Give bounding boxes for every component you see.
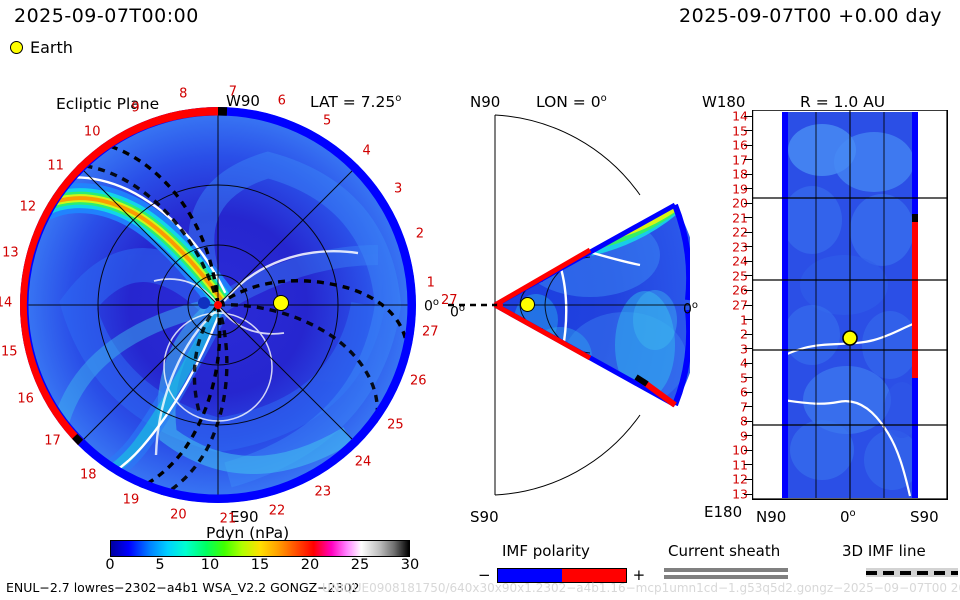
radial-y-tick-mark — [744, 203, 752, 204]
sun-marker-icon — [214, 301, 222, 309]
radial-y-tick-mark — [744, 188, 752, 189]
colorbar-tick-labels: 051015202530 — [110, 557, 410, 575]
radial-y-tick-mark — [744, 348, 752, 349]
radial-y-tick-mark — [744, 130, 752, 131]
ecliptic-hour-label: 10 — [84, 124, 101, 139]
ecliptic-hour-label: 13 — [2, 246, 19, 261]
run-id-footer: UNIQUE0908181750/640x30x90x1.2302−a4b1.1… — [322, 581, 960, 595]
ecliptic-hour-label: 15 — [1, 344, 18, 359]
degree-icon: o — [459, 303, 465, 314]
earth-marker-radial — [843, 331, 857, 345]
polarity-positive-swatch — [562, 569, 626, 582]
degree-icon: o — [601, 93, 607, 104]
colorbar-tick-label: 0 — [105, 557, 114, 573]
ecliptic-hour-label: 16 — [17, 391, 34, 406]
meridional-sun-marker-icon — [497, 302, 503, 308]
radial-y-tick-mark — [744, 363, 752, 364]
radial-y-tick-mark — [744, 159, 752, 160]
colorbar-tick-label: 5 — [155, 557, 164, 573]
radial-y-tick-mark — [744, 450, 752, 451]
imf-line-dashes — [866, 571, 958, 575]
ecliptic-hour-label: 3 — [394, 182, 402, 197]
radial-y-tick-mark — [744, 377, 752, 378]
ecliptic-hour-label: 8 — [179, 86, 187, 101]
degree-icon: o — [850, 508, 856, 519]
meridional-plot-area — [440, 105, 690, 505]
epoch-title: 2025-09-07T00 +0.00 day — [679, 5, 942, 27]
meridional-right-degree-label: 0o — [683, 300, 698, 318]
radial-y-tick-mark — [744, 290, 752, 291]
radial-y-tick-mark — [744, 246, 752, 247]
pdyn-colorbar: 051015202530 — [110, 540, 410, 575]
radial-field — [782, 112, 920, 498]
timestamp-title: 2025-09-07T00:00 — [14, 5, 199, 27]
colorbar-tick-label: 30 — [401, 557, 419, 573]
radial-y-tick-mark — [744, 116, 752, 117]
ecliptic-right-degree-label: 0o — [424, 297, 439, 315]
radial-y-tick-mark — [744, 174, 752, 175]
ecliptic-hour-label: 27 — [422, 325, 439, 340]
meridional-bottom-label: S90 — [470, 508, 499, 526]
radial-y-tick-mark — [744, 494, 752, 495]
radial-y-tick-mark — [744, 319, 752, 320]
ecliptic-hour-label: 17 — [44, 433, 61, 448]
meridional-left-degree-label: 0o — [450, 303, 465, 321]
ecliptic-plot-area — [18, 105, 418, 505]
ecliptic-hour-label: 12 — [20, 199, 37, 214]
model-version-footer: ENUL−2.7 lowres−2302−a4b1 WSA_V2.2 GONGZ… — [6, 580, 359, 595]
radial-y-tick-mark — [744, 334, 752, 335]
radial-y-tick-mark — [744, 217, 752, 218]
radial-x-label-zero: 0o — [840, 508, 856, 526]
earth-marker-icon — [10, 41, 23, 54]
ecliptic-hour-label: 19 — [123, 493, 140, 508]
ecliptic-hour-label: 21 — [220, 511, 237, 526]
radial-y-tick-mark — [744, 305, 752, 306]
ecliptic-hour-label: 18 — [80, 468, 97, 483]
ecliptic-hour-label: 5 — [323, 113, 331, 128]
current-sheath-legend-swatch — [664, 568, 788, 579]
ecliptic-plane-panel: 1011121314151617181920212223242526271234… — [18, 105, 418, 505]
radial-y-tick-mark — [744, 421, 752, 422]
ecliptic-hour-label: 2 — [416, 227, 424, 242]
ecliptic-hour-label: 11 — [47, 158, 64, 173]
degree-icon: o — [433, 297, 439, 308]
radial-x-label-s90: S90 — [910, 508, 939, 526]
radial-bottom-left-label: E180 — [704, 503, 742, 521]
ecliptic-hour-label: 14 — [0, 295, 12, 310]
ecliptic-hour-label: 20 — [170, 508, 187, 523]
radial-y-tick-mark — [744, 145, 752, 146]
ecliptic-hour-label: 7 — [229, 84, 237, 99]
ecliptic-hour-label: 4 — [363, 144, 371, 159]
meridional-panel: 27 0o 0o — [440, 105, 690, 505]
radial-panel-title: R = 1.0 AU — [800, 93, 885, 111]
ecliptic-hour-label: 1 — [427, 275, 435, 290]
current-sheath-line-bottom — [664, 575, 788, 579]
degree-icon: o — [395, 93, 401, 104]
radial-y-tick-mark — [744, 261, 752, 262]
earth-marker-meridional — [520, 297, 535, 312]
radial-y-tick-mark — [744, 392, 752, 393]
polarity-negative-swatch — [498, 569, 562, 582]
colorbar-tick-label: 10 — [201, 557, 219, 573]
radial-x-label-n90: N90 — [756, 508, 786, 526]
earth-legend: Earth — [10, 38, 73, 57]
colorbar-tick-label: 15 — [251, 557, 269, 573]
radial-plot-area — [752, 110, 948, 500]
colorbar-tick-label: 20 — [301, 557, 319, 573]
ecliptic-hour-label: 25 — [387, 417, 404, 432]
ecliptic-hour-label: 9 — [131, 100, 139, 115]
radial-y-tick-mark — [744, 275, 752, 276]
radial-y-tick-mark — [744, 406, 752, 407]
colorbar-gradient — [110, 540, 410, 557]
radial-shell-panel: 1415161718192021222324252627123456789101… — [752, 110, 948, 500]
degree-icon: o — [692, 300, 698, 311]
ecliptic-hour-label: 22 — [269, 503, 286, 518]
radial-y-tick-mark — [744, 479, 752, 480]
colorbar-tick-label: 25 — [351, 557, 369, 573]
earth-marker-ecliptic — [273, 295, 289, 311]
ecliptic-hour-label: 24 — [355, 455, 372, 470]
current-sheath-legend-title: Current sheath — [668, 542, 780, 560]
imf-line-legend-title: 3D IMF line — [842, 542, 926, 560]
ecliptic-hour-label: 26 — [410, 373, 427, 388]
radial-y-tick-mark — [744, 232, 752, 233]
ecliptic-hour-label: 23 — [315, 484, 332, 499]
earth-legend-label: Earth — [30, 38, 73, 57]
imf-polarity-legend-title: IMF polarity — [502, 542, 590, 560]
radial-y-tick-mark — [744, 435, 752, 436]
radial-y-tick-mark — [744, 464, 752, 465]
spacecraft-marker-icon — [198, 297, 210, 309]
ecliptic-hour-label: 6 — [278, 93, 286, 108]
imf-line-legend-swatch — [866, 568, 958, 577]
current-sheath-line-top — [664, 568, 788, 572]
